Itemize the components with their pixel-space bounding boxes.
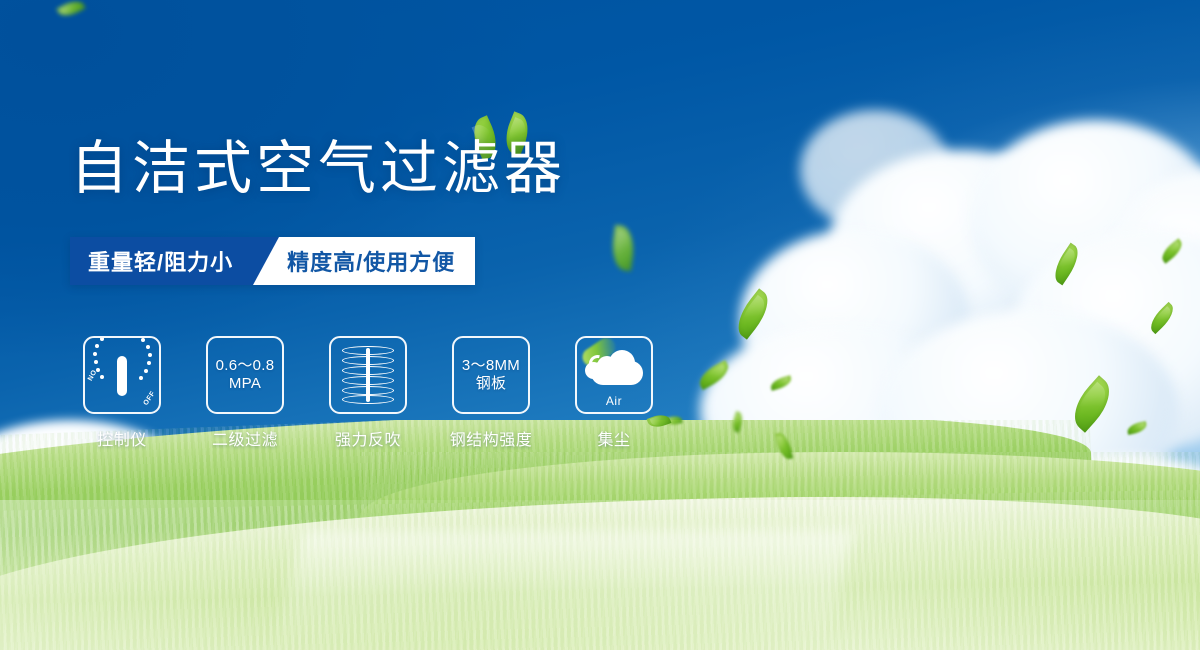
feature-label: 强力反吹: [335, 426, 401, 450]
feature-label: 二级过滤: [212, 426, 278, 450]
feature-item-two-stage-filter[interactable]: 0.6～0.8 MPA 二级过滤: [193, 336, 297, 450]
feature-icon-box: 3～8MM 钢板: [452, 336, 530, 414]
gauge-no-label: NO: [87, 369, 99, 382]
subtitle-badge-bar: 重量轻/阻力小 精度高/使用方便: [70, 237, 475, 285]
grass-field: [0, 420, 1200, 650]
feature-item-reverse-blow[interactable]: 强力反吹: [316, 336, 420, 450]
pressure-value-line1: 0.6～0.8: [216, 357, 275, 375]
air-label: Air: [579, 394, 649, 408]
feature-list: NO OFF 控制仪 0.6～0.8 MPA 二级过滤: [70, 336, 666, 450]
steel-thickness-line2: 钢板: [462, 375, 520, 393]
subtitle-left-segment: 重量轻/阻力小: [70, 237, 253, 285]
coil-filter-icon: [341, 346, 395, 404]
feature-label: 钢结构强度: [450, 426, 533, 450]
feature-item-controller[interactable]: NO OFF 控制仪: [70, 336, 174, 450]
product-hero-banner: 自洁式空气过滤器 重量轻/阻力小 精度高/使用方便: [0, 0, 1200, 650]
feature-icon-box: [329, 336, 407, 414]
feature-icon-box: Air: [575, 336, 653, 414]
subtitle-right-segment: 精度高/使用方便: [279, 237, 475, 285]
feature-item-dust-collection[interactable]: Air 集尘: [562, 336, 666, 450]
gauge-dial-icon: NO OFF: [87, 344, 157, 406]
feature-icon-box: NO OFF: [83, 336, 161, 414]
subtitle-divider-slant: [253, 237, 279, 285]
page-title: 自洁式空气过滤器: [70, 140, 566, 198]
gauge-off-label: OFF: [142, 390, 156, 407]
feature-item-steel-strength[interactable]: 3～8MM 钢板 钢结构强度: [439, 336, 543, 450]
feature-icon-box: 0.6～0.8 MPA: [206, 336, 284, 414]
steel-thickness-line1: 3～8MM: [462, 357, 520, 375]
feature-label: 控制仪: [97, 426, 147, 450]
steel-plate-text-icon: 3～8MM 钢板: [462, 357, 520, 392]
pressure-value-line2: MPA: [216, 375, 275, 393]
feature-label: 集尘: [597, 426, 630, 450]
grass-light-sheen: [0, 500, 1200, 650]
pressure-text-icon: 0.6～0.8 MPA: [216, 357, 275, 392]
air-cloud-icon: Air: [579, 343, 649, 407]
